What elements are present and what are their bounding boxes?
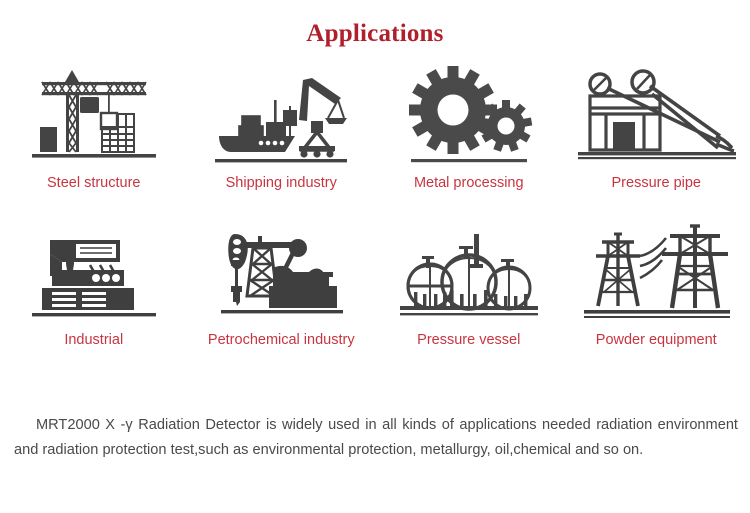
- industrial-machine-icon: [0, 217, 188, 327]
- applications-grid: Steel structure: [0, 62, 750, 372]
- application-label: Steel structure: [47, 176, 141, 192]
- tower-crane-icon: [0, 62, 188, 170]
- applications-page: Applications: [0, 0, 750, 513]
- application-cell-petrochemical-industry[interactable]: Petrochemical industry: [188, 217, 376, 372]
- application-label: Petrochemical industry: [208, 333, 355, 349]
- application-label: Shipping industry: [226, 176, 337, 192]
- application-cell-steel-structure[interactable]: Steel structure: [0, 62, 188, 217]
- gears-icon: [375, 62, 563, 170]
- application-label: Powder equipment: [596, 333, 717, 349]
- application-label: Pressure vessel: [417, 333, 520, 349]
- description-paragraph: MRT2000 X -γ Radiation Detector is widel…: [14, 413, 738, 463]
- application-cell-industrial[interactable]: Industrial: [0, 217, 188, 372]
- application-label: Metal processing: [414, 176, 524, 192]
- application-cell-pressure-vessel[interactable]: Pressure vessel: [375, 217, 563, 372]
- page-title: Applications: [0, 0, 750, 46]
- application-label: Pressure pipe: [612, 176, 701, 192]
- spherical-tanks-icon: [375, 217, 563, 327]
- power-pylons-icon: [563, 217, 750, 327]
- application-cell-shipping-industry[interactable]: Shipping industry: [188, 62, 376, 217]
- application-cell-pressure-pipe[interactable]: Pressure pipe: [563, 62, 750, 217]
- application-label: Industrial: [64, 333, 123, 349]
- oil-pumpjack-icon: [188, 217, 376, 327]
- application-cell-powder-equipment[interactable]: Powder equipment: [563, 217, 750, 372]
- pressure-pipe-icon: [563, 62, 750, 170]
- application-cell-metal-processing[interactable]: Metal processing: [375, 62, 563, 217]
- cargo-ship-port-crane-icon: [188, 62, 376, 170]
